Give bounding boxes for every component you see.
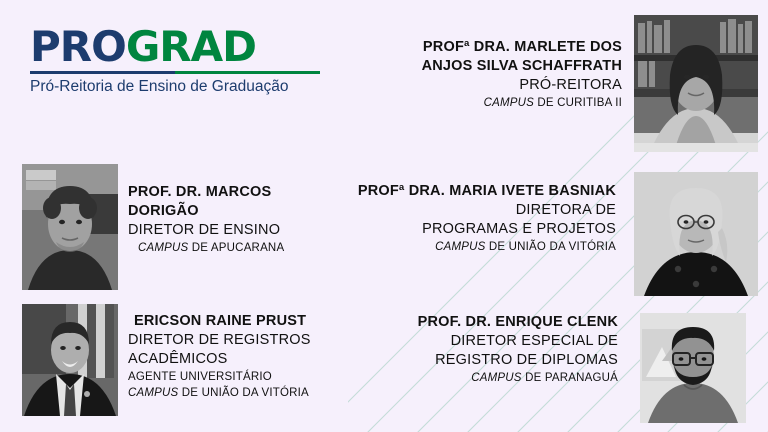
campus-label: CAMPUS bbox=[435, 241, 485, 253]
campus-label: CAMPUS bbox=[484, 97, 534, 109]
person-role-line: ACADÊMICOS bbox=[128, 350, 358, 369]
logo-word-grad: GRAD bbox=[126, 22, 256, 71]
person-campus-line: CAMPUS DE CURITIBA II bbox=[322, 95, 622, 111]
campus-label: CAMPUS bbox=[138, 242, 188, 254]
person-role-line: REGISTRO DE DIPLOMAS bbox=[338, 351, 618, 370]
person-name-line: ANJOS SILVA SCHAFFRATH bbox=[322, 57, 622, 76]
person-role-line: DIRETORA DE bbox=[306, 201, 616, 220]
person-block-ivete: PROFª DRA. MARIA IVETE BASNIAK DIRETORA … bbox=[306, 182, 616, 255]
slide-canvas: PROGRAD Pró-Reitoria de Ensino de Gradua… bbox=[0, 0, 768, 432]
person-role-line: PRÓ-REITORA bbox=[322, 76, 622, 95]
photo-marcos bbox=[22, 164, 118, 290]
campus-label: CAMPUS bbox=[128, 387, 178, 399]
campus-value: DE UNIÃO DA VITÓRIA bbox=[178, 387, 309, 399]
campus-value: DE UNIÃO DA VITÓRIA bbox=[485, 241, 616, 253]
prograd-logo: PROGRAD Pró-Reitoria de Ensino de Gradua… bbox=[30, 24, 330, 97]
person-role-line: PROGRAMAS E PROJETOS bbox=[306, 220, 616, 239]
photo-ivete bbox=[634, 172, 758, 296]
campus-value: DE PARANAGUÁ bbox=[522, 372, 618, 384]
person-name-line: PROFª DRA. MARIA IVETE BASNIAK bbox=[306, 182, 616, 201]
person-campus-line: CAMPUS DE UNIÃO DA VITÓRIA bbox=[128, 385, 358, 401]
logo-word-pro: PRO bbox=[30, 22, 126, 71]
campus-label: CAMPUS bbox=[471, 372, 521, 384]
person-name-line: PROFª DRA. MARLETE DOS bbox=[322, 38, 622, 57]
person-role-line: DIRETOR DE REGISTROS bbox=[128, 331, 358, 350]
logo-wordmark: PROGRAD bbox=[30, 24, 330, 70]
photo-ericson bbox=[22, 304, 118, 416]
person-extra-line: AGENTE UNIVERSITÁRIO bbox=[128, 369, 358, 385]
campus-value: DE CURITIBA II bbox=[534, 97, 622, 109]
person-campus-line: CAMPUS DE UNIÃO DA VITÓRIA bbox=[306, 239, 616, 255]
logo-divider-rule bbox=[30, 71, 320, 74]
campus-value: DE APUCARANA bbox=[188, 242, 284, 254]
person-name-line: ERICSON RAINE PRUST bbox=[128, 312, 358, 331]
logo-subtitle: Pró-Reitoria de Ensino de Graduação bbox=[30, 77, 330, 97]
person-role-line: DIRETOR ESPECIAL DE bbox=[338, 332, 618, 351]
person-block-enrique: PROF. DR. ENRIQUE CLENK DIRETOR ESPECIAL… bbox=[338, 313, 618, 386]
photo-enrique bbox=[640, 313, 746, 423]
person-block-ericson: ERICSON RAINE PRUST DIRETOR DE REGISTROS… bbox=[128, 312, 358, 401]
person-name-line: PROF. DR. ENRIQUE CLENK bbox=[338, 313, 618, 332]
photo-marlete bbox=[634, 15, 758, 152]
person-block-marlete: PROFª DRA. MARLETE DOS ANJOS SILVA SCHAF… bbox=[322, 38, 622, 111]
person-campus-line: CAMPUS DE PARANAGUÁ bbox=[338, 370, 618, 386]
